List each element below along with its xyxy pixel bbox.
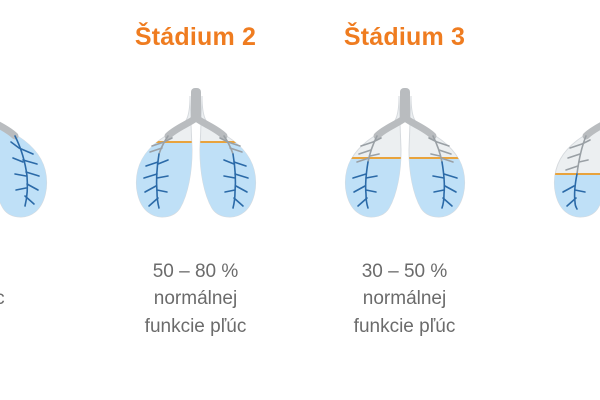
- stage-caption-2: 50 – 80 % normálnej funkcie pľúc: [145, 258, 247, 341]
- lung-svg-3: [315, 62, 495, 242]
- stages-row: 1: [0, 0, 600, 400]
- stage-title-3: Štádium 3: [344, 24, 465, 52]
- lung-illustration-2: [106, 62, 286, 242]
- trachea-3: [377, 88, 433, 136]
- lung-fill-1: [0, 95, 77, 228]
- trachea-2: [168, 88, 224, 136]
- trachea-1: [0, 88, 15, 136]
- lung-svg-1: [0, 62, 77, 242]
- stage-card-4: Š: [509, 0, 600, 400]
- stage-card-1: 1: [0, 0, 91, 400]
- stage-caption-1: nej pľúc: [0, 258, 5, 313]
- lung-illustration-4: [524, 62, 600, 242]
- lung-svg-4: [524, 62, 600, 242]
- lung-fill-4: [524, 173, 600, 238]
- lung-illustration-1: [0, 62, 77, 242]
- diagram-canvas: 1: [0, 0, 600, 400]
- stage-card-3: Štádium 3: [300, 0, 509, 400]
- lung-fill-2: [106, 141, 286, 232]
- lung-fill-3: [315, 157, 495, 238]
- stage-title-2: Štádium 2: [135, 24, 256, 52]
- stage-card-2: Štádium 2: [91, 0, 300, 400]
- lung-illustration-3: [315, 62, 495, 242]
- stage-caption-3: 30 – 50 % normálnej funkcie pľúc: [354, 258, 456, 341]
- trachea-4: [586, 88, 600, 136]
- lung-svg-2: [106, 62, 286, 242]
